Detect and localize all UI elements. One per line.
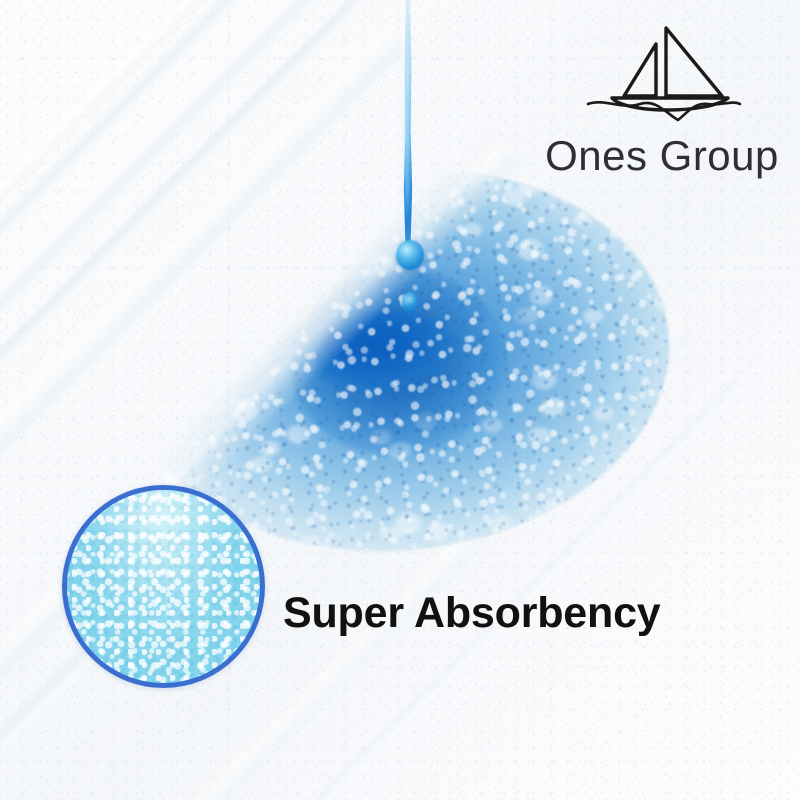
liquid-droplet-icon [396,240,424,270]
absorbent-granule-inset [62,485,265,688]
liquid-stream-highlight [404,10,410,220]
brand-block: Ones Group [538,18,786,180]
sailboat-icon [582,18,742,126]
product-marketing-image: Super Absorbency Ones Group [0,0,800,800]
tagline-text: Super Absorbency [283,589,661,638]
granule-sheen [67,490,260,683]
brand-name: Ones Group [538,132,786,180]
